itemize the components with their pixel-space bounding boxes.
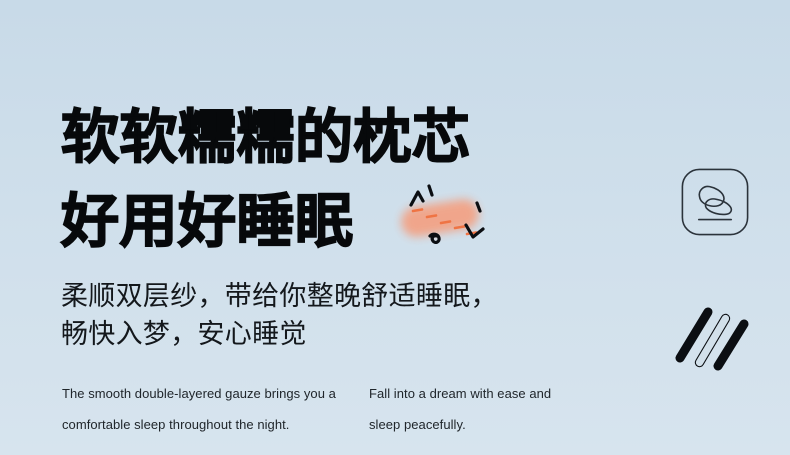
- caption-left: The smooth double-layered gauze brings y…: [62, 379, 362, 440]
- sleep-doodle-icon: [393, 181, 497, 257]
- caption-left-line-1: The smooth double-layered gauze brings y…: [62, 379, 362, 410]
- promo-banner: 软软糯糯的枕芯 好用好睡眠 柔顺双层纱，带给你整晚舒适睡眠， 畅快入梦，安心睡觉…: [0, 0, 790, 455]
- caption-right-line-2: sleep peacefully.: [369, 410, 619, 441]
- pillow-icon: [681, 168, 749, 236]
- caption-right: Fall into a dream with ease and sleep pe…: [369, 379, 619, 440]
- subheadline: 柔顺双层纱，带给你整晚舒适睡眠， 畅快入梦，安心睡觉: [61, 277, 498, 354]
- caption-right-line-1: Fall into a dream with ease and: [369, 379, 619, 410]
- headline-line-1: 软软糯糯的枕芯: [61, 96, 471, 180]
- subheadline-line-2: 畅快入梦，安心睡觉: [61, 315, 498, 353]
- subheadline-line-1: 柔顺双层纱，带给你整晚舒适睡眠，: [61, 277, 498, 315]
- diagonal-stripes-icon: [668, 302, 756, 374]
- caption-left-line-2: comfortable sleep throughout the night.: [62, 410, 362, 441]
